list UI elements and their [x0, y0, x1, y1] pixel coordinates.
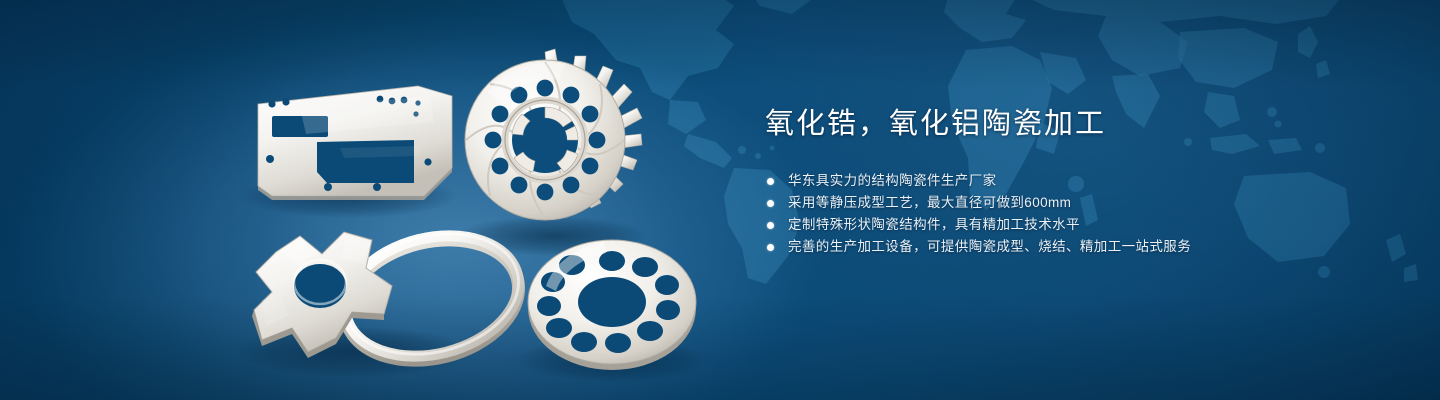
ceramic-holed-disc	[528, 240, 696, 370]
feature-list: 华东具实力的结构陶瓷件生产厂家 采用等静压成型工艺，最大直径可做到600mm 定…	[765, 170, 1385, 258]
list-item: 完善的生产加工设备，可提供陶瓷成型、烧结、精加工一站式服务	[765, 236, 1385, 258]
bullet-dot-icon	[767, 222, 774, 229]
bullet-dot-icon	[767, 244, 774, 251]
bullet-dot-icon	[767, 178, 774, 185]
list-item: 华东具实力的结构陶瓷件生产厂家	[765, 170, 1385, 192]
feature-text: 完善的生产加工设备，可提供陶瓷成型、烧结、精加工一站式服务	[788, 236, 1191, 258]
bullet-dot-icon	[767, 200, 774, 207]
ceramic-flat-plate	[258, 86, 452, 200]
feature-text: 采用等静压成型工艺，最大直径可做到600mm	[788, 192, 1071, 214]
ceramic-processing-banner: 氧化锆，氧化铝陶瓷加工 华东具实力的结构陶瓷件生产厂家 采用等静压成型工艺，最大…	[0, 0, 1440, 400]
list-item: 定制特殊形状陶瓷结构件，具有精加工技术水平	[765, 214, 1385, 236]
list-item: 采用等静压成型工艺，最大直径可做到600mm	[765, 192, 1385, 214]
page-title: 氧化锆，氧化铝陶瓷加工	[765, 104, 1385, 144]
ceramic-products-photo	[0, 0, 740, 400]
ceramic-impeller	[465, 49, 642, 220]
feature-text: 定制特殊形状陶瓷结构件，具有精加工技术水平	[788, 214, 1080, 236]
feature-text: 华东具实力的结构陶瓷件生产厂家	[788, 170, 997, 192]
banner-copy: 氧化锆，氧化铝陶瓷加工 华东具实力的结构陶瓷件生产厂家 采用等静压成型工艺，最大…	[765, 104, 1385, 258]
